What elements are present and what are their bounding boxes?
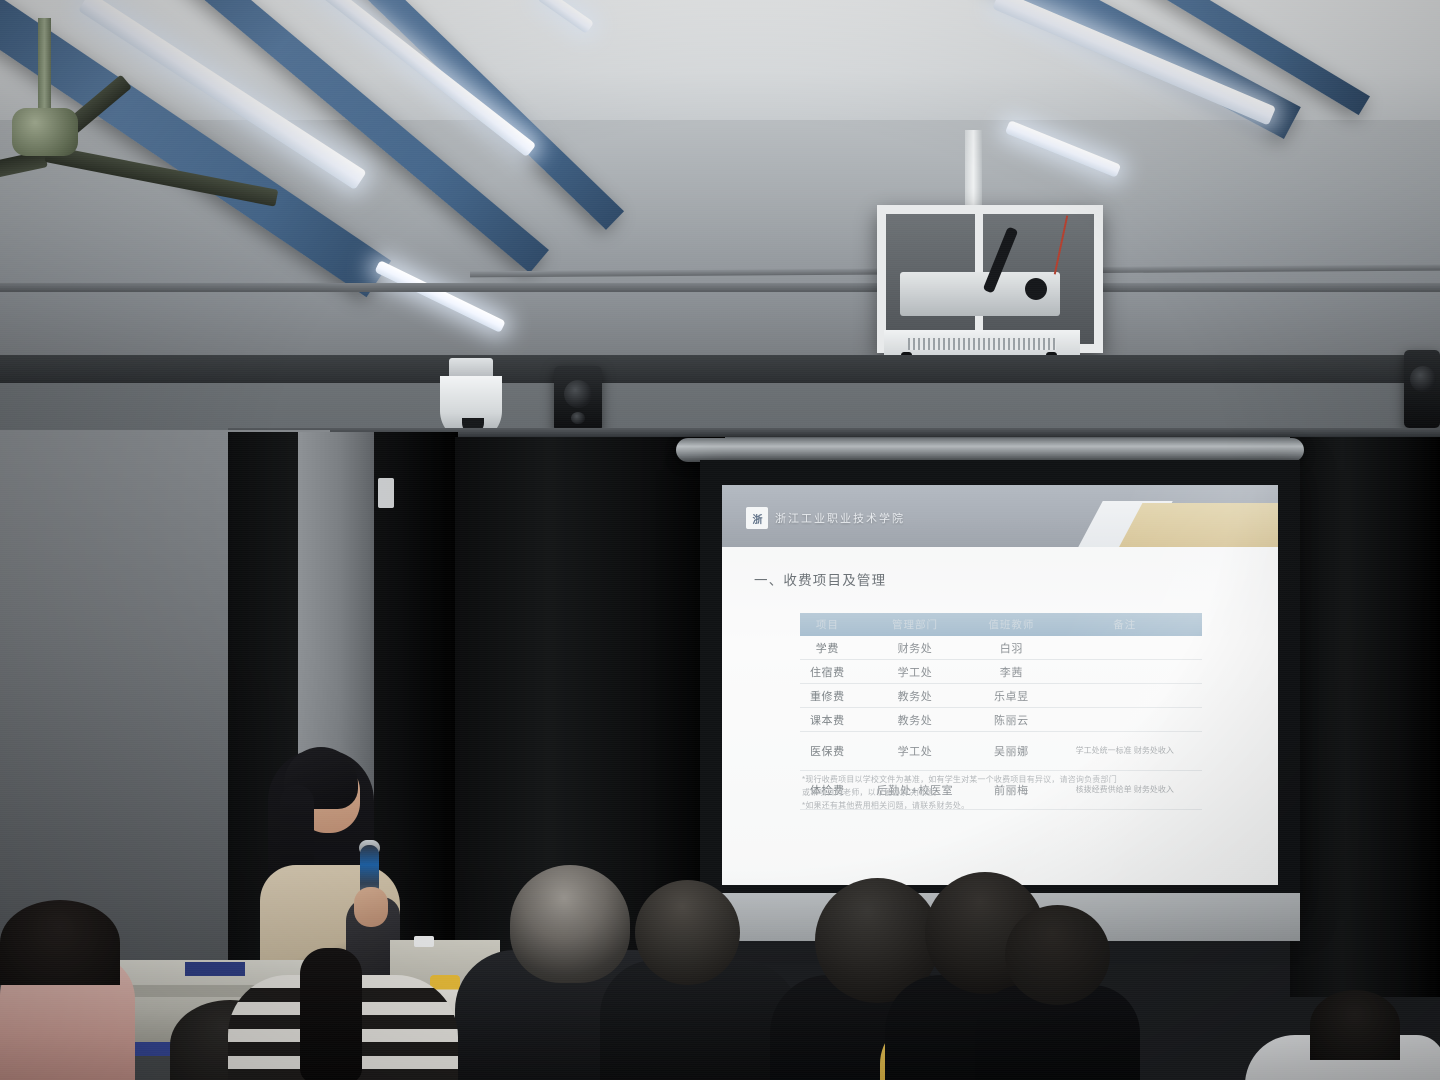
projector-vent xyxy=(908,338,1056,350)
cell-teacher: 乐卓昱 xyxy=(975,684,1047,708)
column-header-remark: 备注 xyxy=(1048,613,1202,636)
ceiling-fan-rod xyxy=(38,18,51,113)
audience-member-head xyxy=(1310,990,1400,1060)
ceiling-fan-motor xyxy=(12,108,78,156)
audience-member-ponytail xyxy=(300,948,362,1080)
column-header-item: 项目 xyxy=(800,613,855,636)
slide-header-band: 浙 浙江工业职业技术学院 xyxy=(722,485,1278,547)
audience-member-head xyxy=(1005,905,1110,1005)
screen-roller-casing xyxy=(676,438,1304,462)
cell-teacher: 李茜 xyxy=(975,660,1047,684)
fluorescent-light xyxy=(1005,120,1122,178)
table-header-row: 项目 管理部门 值班教师 备注 xyxy=(800,613,1202,636)
footnote-line: *现行收费项目以学校文件为基准，如有学生对某一个收费项目有异议，请咨询负责部门 xyxy=(802,773,1222,786)
audience-member-head xyxy=(0,900,120,985)
presentation-slide: 浙 浙江工业职业技术学院 一、收费项目及管理 项目 管理部门 值班教师 备注 xyxy=(722,485,1278,885)
ceiling-fan-blade xyxy=(0,150,48,192)
table-row: 医保费 学工处 吴丽娜 学工处统一标准 财务处收入 xyxy=(800,732,1202,771)
table-row: 住宿费 学工处 李茜 xyxy=(800,660,1202,684)
cell-teacher: 吴丽娜 xyxy=(975,732,1047,771)
slide-title: 一、收费项目及管理 xyxy=(754,569,886,589)
slide-footnotes: *现行收费项目以学校文件为基准，如有学生对某一个收费项目有异议，请咨询负责部门 … xyxy=(802,773,1222,813)
cell-remark xyxy=(1048,708,1202,732)
cell-dept: 教务处 xyxy=(855,684,975,708)
projector-mount-pole xyxy=(965,130,982,212)
speaker-cone-icon xyxy=(564,380,592,408)
cell-dept: 财务处 xyxy=(855,636,975,660)
printer-tray xyxy=(185,962,245,976)
cell-remark xyxy=(1048,636,1202,660)
desk-label xyxy=(414,936,434,947)
projection-screen: 浙 浙江工业职业技术学院 一、收费项目及管理 项目 管理部门 值班教师 备注 xyxy=(722,485,1278,885)
institution-name: 浙江工业职业技术学院 xyxy=(775,510,905,526)
speaker-cone-icon xyxy=(1410,366,1436,392)
audience-member-head xyxy=(635,880,740,985)
cell-teacher: 陈丽云 xyxy=(975,708,1047,732)
cell-dept: 教务处 xyxy=(855,708,975,732)
wall-notice xyxy=(378,478,394,508)
institution-logo: 浙 浙江工业职业技术学院 xyxy=(746,507,905,529)
table-row: 课本费 教务处 陈丽云 xyxy=(800,708,1202,732)
table-row: 学费 财务处 白羽 xyxy=(800,636,1202,660)
cell-item: 课本费 xyxy=(800,708,855,732)
cell-item: 学费 xyxy=(800,636,855,660)
cell-item: 住宿费 xyxy=(800,660,855,684)
cell-remark xyxy=(1048,660,1202,684)
table-row: 重修费 教务处 乐卓昱 xyxy=(800,684,1202,708)
classroom-photo: 浙 浙江工业职业技术学院 一、收费项目及管理 项目 管理部门 值班教师 备注 xyxy=(0,0,1440,1080)
slide-header-accent-gold xyxy=(1118,503,1278,547)
projector-knob xyxy=(1025,278,1047,300)
logo-mark-icon: 浙 xyxy=(746,507,768,529)
blackout-curtain xyxy=(1290,437,1440,997)
cell-remark: 学工处统一标准 财务处收入 xyxy=(1048,732,1202,771)
cell-dept: 学工处 xyxy=(855,660,975,684)
wall-trim-band xyxy=(0,355,1440,383)
presenter-hand xyxy=(354,887,388,927)
cell-item: 医保费 xyxy=(800,732,855,771)
speaker-tweeter-icon xyxy=(571,412,585,424)
cell-item: 重修费 xyxy=(800,684,855,708)
wall-speaker-right xyxy=(1404,350,1440,428)
cell-teacher: 白羽 xyxy=(975,636,1047,660)
cell-remark xyxy=(1048,684,1202,708)
audience-member-head xyxy=(510,865,630,983)
ceiling-conduit xyxy=(0,283,1440,292)
ceiling xyxy=(0,0,1440,370)
column-header-dept: 管理部门 xyxy=(855,613,975,636)
wall-speaker-left xyxy=(554,366,602,432)
footnote-line: *如果还有其他费用相关问题，请联系财务处。 xyxy=(802,799,1222,812)
footnote-line: 或本项目的老师，以以便协解决问题。 xyxy=(802,786,1222,799)
cell-dept: 学工处 xyxy=(855,732,975,771)
column-header-teacher: 值班教师 xyxy=(975,613,1047,636)
